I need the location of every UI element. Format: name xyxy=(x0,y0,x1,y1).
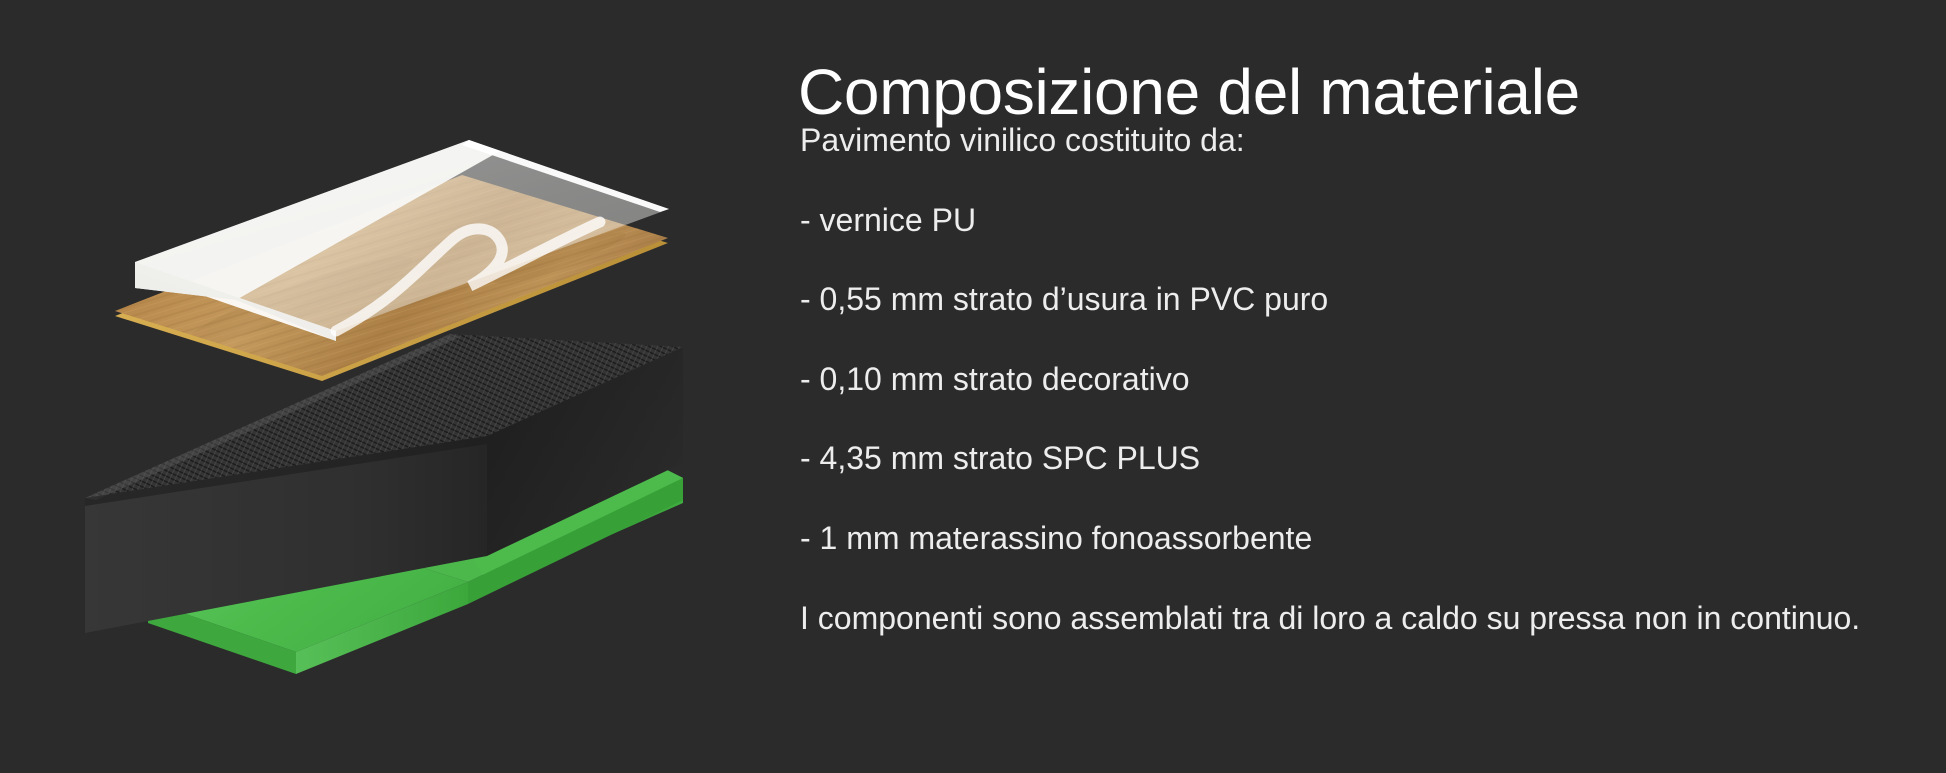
exploded-layers-diagram xyxy=(0,0,780,773)
layer-item-materassino: - 1 mm materassino fonoassorbente xyxy=(800,518,1890,560)
layer-item-vernice-pu: - vernice PU xyxy=(800,200,1890,242)
assembly-note: I componenti sono assemblati tra di loro… xyxy=(800,598,1885,640)
layer-item-strato-spc-plus: - 4,35 mm strato SPC PLUS xyxy=(800,438,1890,480)
layer-item-strato-usura: - 0,55 mm strato d’usura in PVC puro xyxy=(800,279,1890,321)
intro-line: Pavimento vinilico costituito da: xyxy=(800,120,1890,162)
material-diagram-panel xyxy=(0,0,780,773)
composition-description: Pavimento vinilico costituito da: - vern… xyxy=(800,120,1890,639)
slide-root: Composizione del materiale Pavimento vin… xyxy=(0,0,1946,773)
text-panel: Composizione del materiale Pavimento vin… xyxy=(780,0,1946,773)
page-title: Composizione del materiale xyxy=(798,57,1580,129)
layer-item-strato-decorativo: - 0,10 mm strato decorativo xyxy=(800,359,1890,401)
